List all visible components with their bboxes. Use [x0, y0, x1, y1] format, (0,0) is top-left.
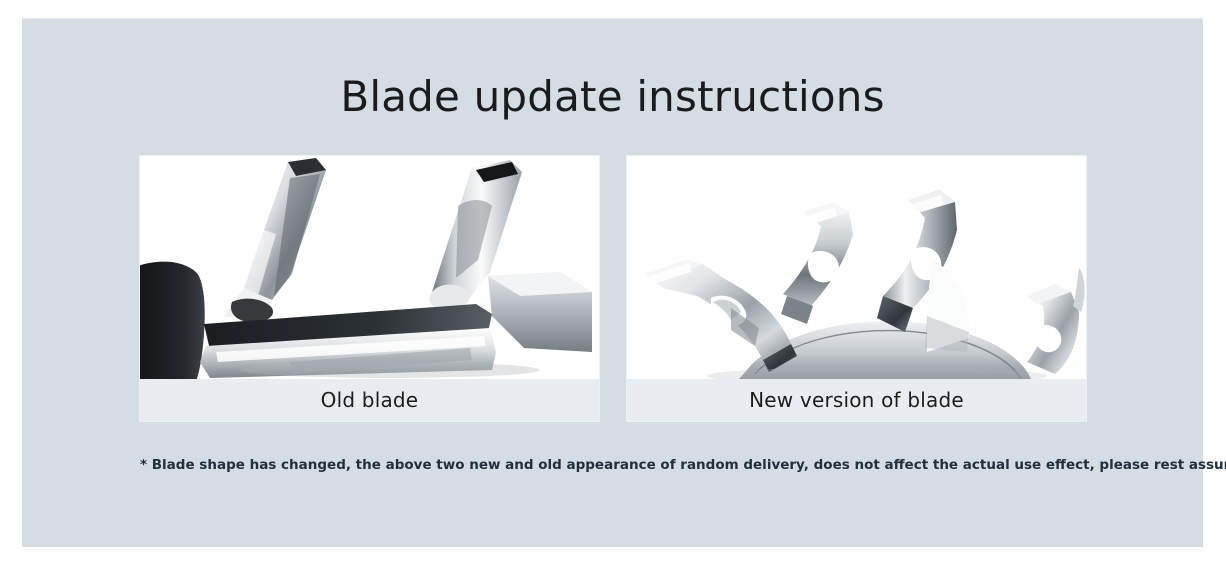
new-blade-photo — [627, 156, 1086, 379]
page-title: Blade update instructions — [22, 69, 1203, 125]
new-blade-caption: New version of blade — [627, 379, 1086, 421]
footnote-text: * Blade shape has changed, the above two… — [140, 455, 1100, 475]
new-blade-illustration — [627, 156, 1086, 379]
blade-comparison-gallery: Old blade — [140, 156, 1086, 421]
old-blade-caption: Old blade — [140, 379, 599, 421]
old-blade-illustration — [140, 156, 599, 379]
old-blade-housing — [140, 262, 205, 379]
old-blade-card[interactable]: Old blade — [140, 156, 599, 421]
old-blade-photo — [140, 156, 599, 379]
new-blade-card[interactable]: New version of blade — [627, 156, 1086, 421]
content-panel: Blade update instructions — [22, 18, 1203, 547]
